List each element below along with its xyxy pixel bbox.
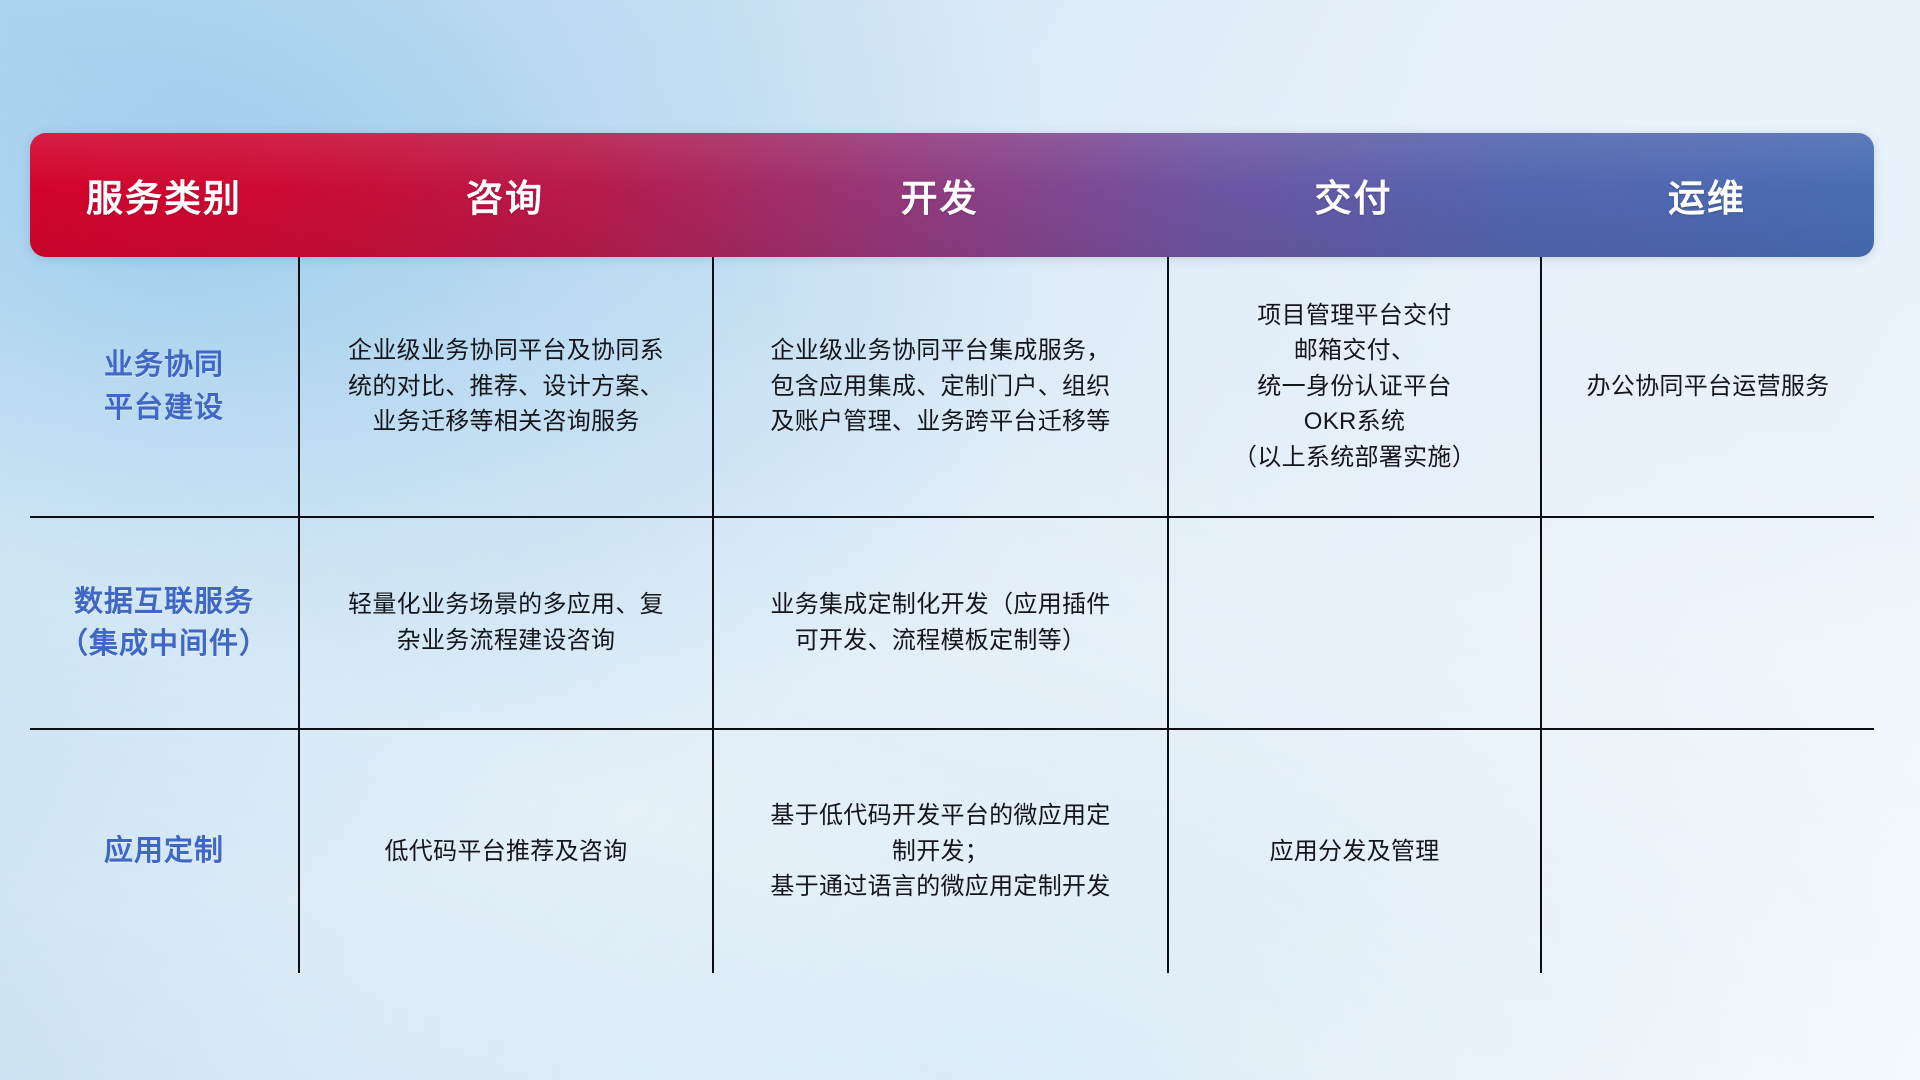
column-header-consulting: 咨询 bbox=[298, 168, 712, 222]
cell-operations bbox=[1540, 518, 1874, 728]
cell-development: 业务集成定制化开发（应用插件 可开发、流程模板定制等） bbox=[712, 518, 1167, 728]
cell-consulting: 轻量化业务场景的多应用、复 杂业务流程建设咨询 bbox=[298, 518, 712, 728]
cell-consulting: 企业级业务协同平台及协同系 统的对比、推荐、设计方案、 业务迁移等相关咨询服务 bbox=[298, 257, 712, 516]
column-header-delivery: 交付 bbox=[1167, 168, 1540, 222]
row-category-label: 业务协同 平台建设 bbox=[30, 257, 298, 516]
table-row: 应用定制 低代码平台推荐及咨询 基于低代码开发平台的微应用定 制开发； 基于通过… bbox=[30, 728, 1874, 973]
cell-operations bbox=[1540, 730, 1874, 973]
table-body: 业务协同 平台建设 企业级业务协同平台及协同系 统的对比、推荐、设计方案、 业务… bbox=[30, 257, 1874, 973]
table-row: 数据互联服务 （集成中间件） 轻量化业务场景的多应用、复 杂业务流程建设咨询 业… bbox=[30, 516, 1874, 728]
cell-development: 企业级业务协同平台集成服务， 包含应用集成、定制门户、组织 及账户管理、业务跨平… bbox=[712, 257, 1167, 516]
cell-development: 基于低代码开发平台的微应用定 制开发； 基于通过语言的微应用定制开发 bbox=[712, 730, 1167, 973]
table-header-row: 服务类别 咨询 开发 交付 运维 bbox=[30, 133, 1874, 257]
column-header-development: 开发 bbox=[712, 168, 1167, 222]
row-category-label: 数据互联服务 （集成中间件） bbox=[30, 518, 298, 728]
service-matrix-table: 服务类别 咨询 开发 交付 运维 业务协同 平台建设 企业级业务协同平台及协同系… bbox=[30, 133, 1874, 953]
table-row: 业务协同 平台建设 企业级业务协同平台及协同系 统的对比、推荐、设计方案、 业务… bbox=[30, 257, 1874, 516]
cell-delivery: 项目管理平台交付 邮箱交付、 统一身份认证平台 OKR系统 （以上系统部署实施） bbox=[1167, 257, 1540, 516]
row-category-label: 应用定制 bbox=[30, 730, 298, 973]
cell-operations: 办公协同平台运营服务 bbox=[1540, 257, 1874, 516]
cell-consulting: 低代码平台推荐及咨询 bbox=[298, 730, 712, 973]
column-header-service-category: 服务类别 bbox=[30, 168, 298, 222]
column-header-operations: 运维 bbox=[1540, 168, 1874, 222]
cell-delivery: 应用分发及管理 bbox=[1167, 730, 1540, 973]
cell-delivery bbox=[1167, 518, 1540, 728]
